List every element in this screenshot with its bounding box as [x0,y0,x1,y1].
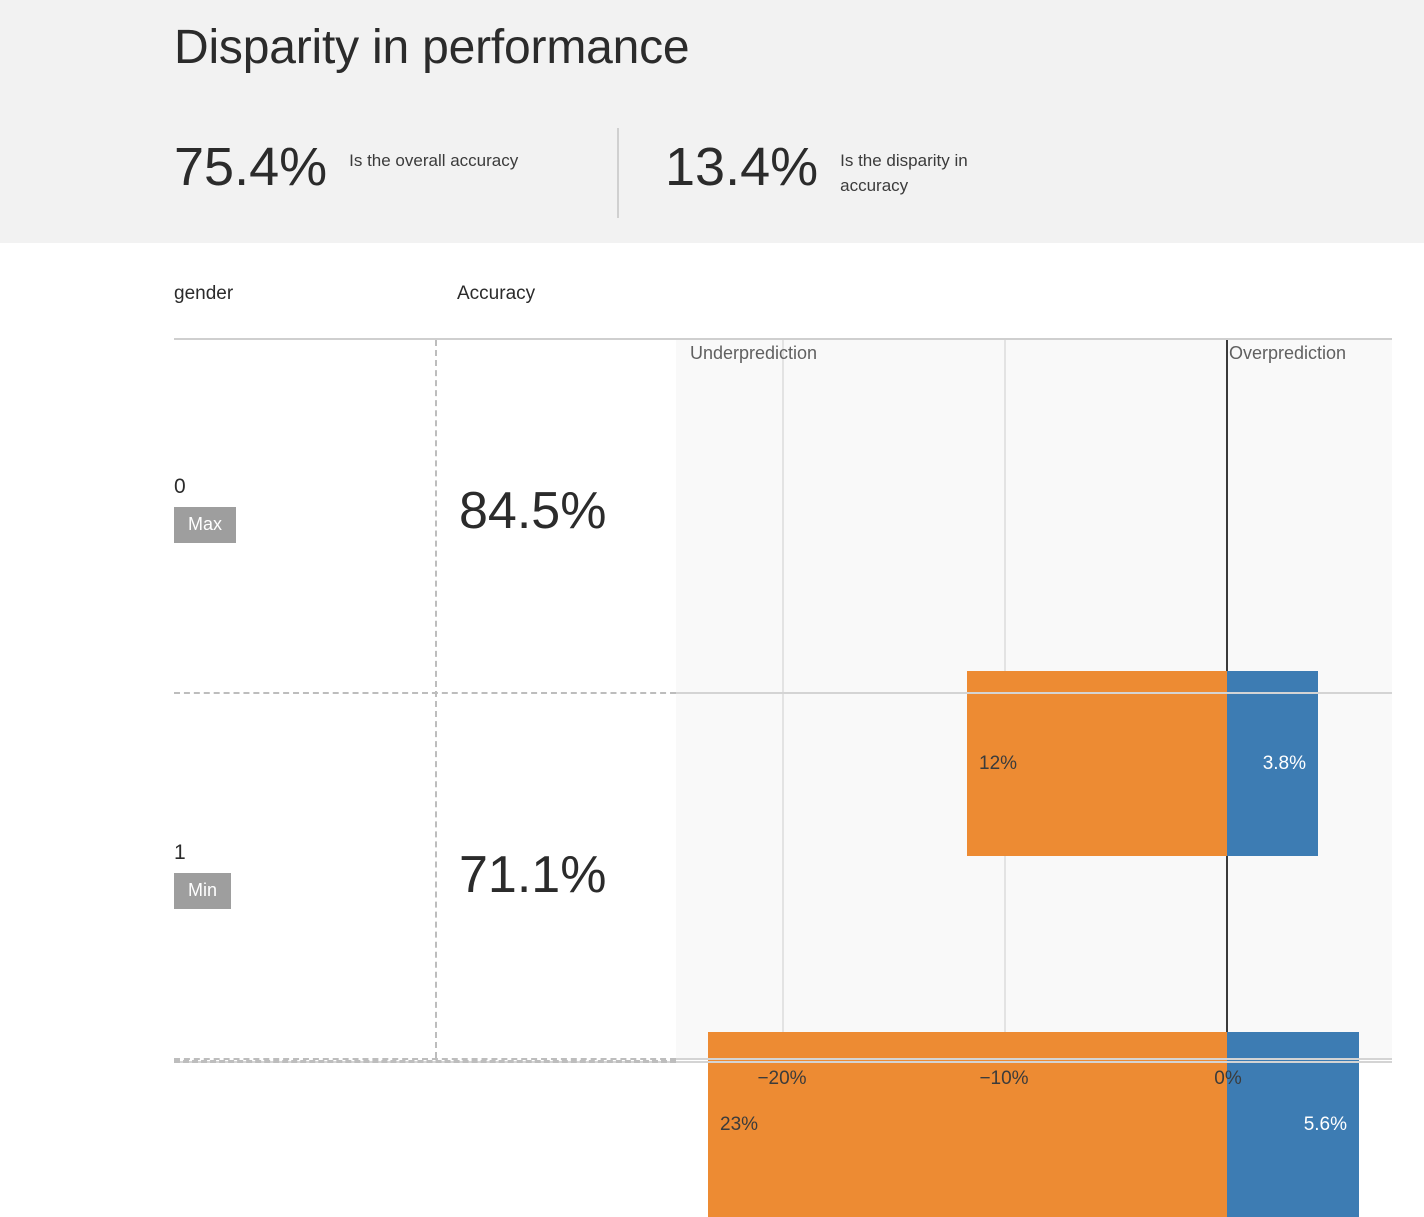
table-row[interactable]: 1 Min 71.1% 23% 5.6% [0,694,1424,1058]
disparity-table: gender Accuracy Underprediction Overpred… [0,243,1424,1112]
bar-label-overprediction-1: 5.6% [1304,1114,1347,1136]
stat-divider [617,128,619,218]
stat-overall-accuracy-value: 75.4% [174,136,327,198]
stat-overall-accuracy-caption: Is the overall accuracy [349,148,539,173]
summary-banner: Disparity in performance 75.4% Is the ov… [0,0,1424,243]
column-header-accuracy: Accuracy [457,283,535,305]
axis-rule-dashed [174,1060,676,1063]
axis-tick-minus-20: −20% [757,1068,806,1090]
table-row[interactable]: 0 Max 84.5% 12% 3.8% [0,340,1424,692]
row-category-0: 0 Max [174,473,424,543]
row-badge-min: Min [174,873,231,909]
row-metric-1: 71.1% [459,847,606,903]
column-header-gender: gender [174,283,233,305]
row-separator-solid [676,1058,1392,1060]
row-metric-0: 84.5% [459,483,606,539]
stat-disparity-accuracy: 13.4% Is the disparity in accuracy [665,136,1030,198]
stat-disparity-accuracy-value: 13.4% [665,136,818,198]
axis-tick-minus-10: −10% [979,1068,1028,1090]
stat-overall-accuracy: 75.4% Is the overall accuracy [174,136,539,198]
stat-disparity-accuracy-caption: Is the disparity in accuracy [840,148,1030,198]
row-badge-max: Max [174,507,236,543]
bar-label-underprediction-1: 23% [720,1114,758,1136]
row-category-label: 1 [174,839,424,867]
page-title: Disparity in performance [174,20,689,75]
row-category-label: 0 [174,473,424,501]
row-category-1: 1 Min [174,839,424,909]
axis-tick-zero: 0% [1214,1068,1241,1090]
